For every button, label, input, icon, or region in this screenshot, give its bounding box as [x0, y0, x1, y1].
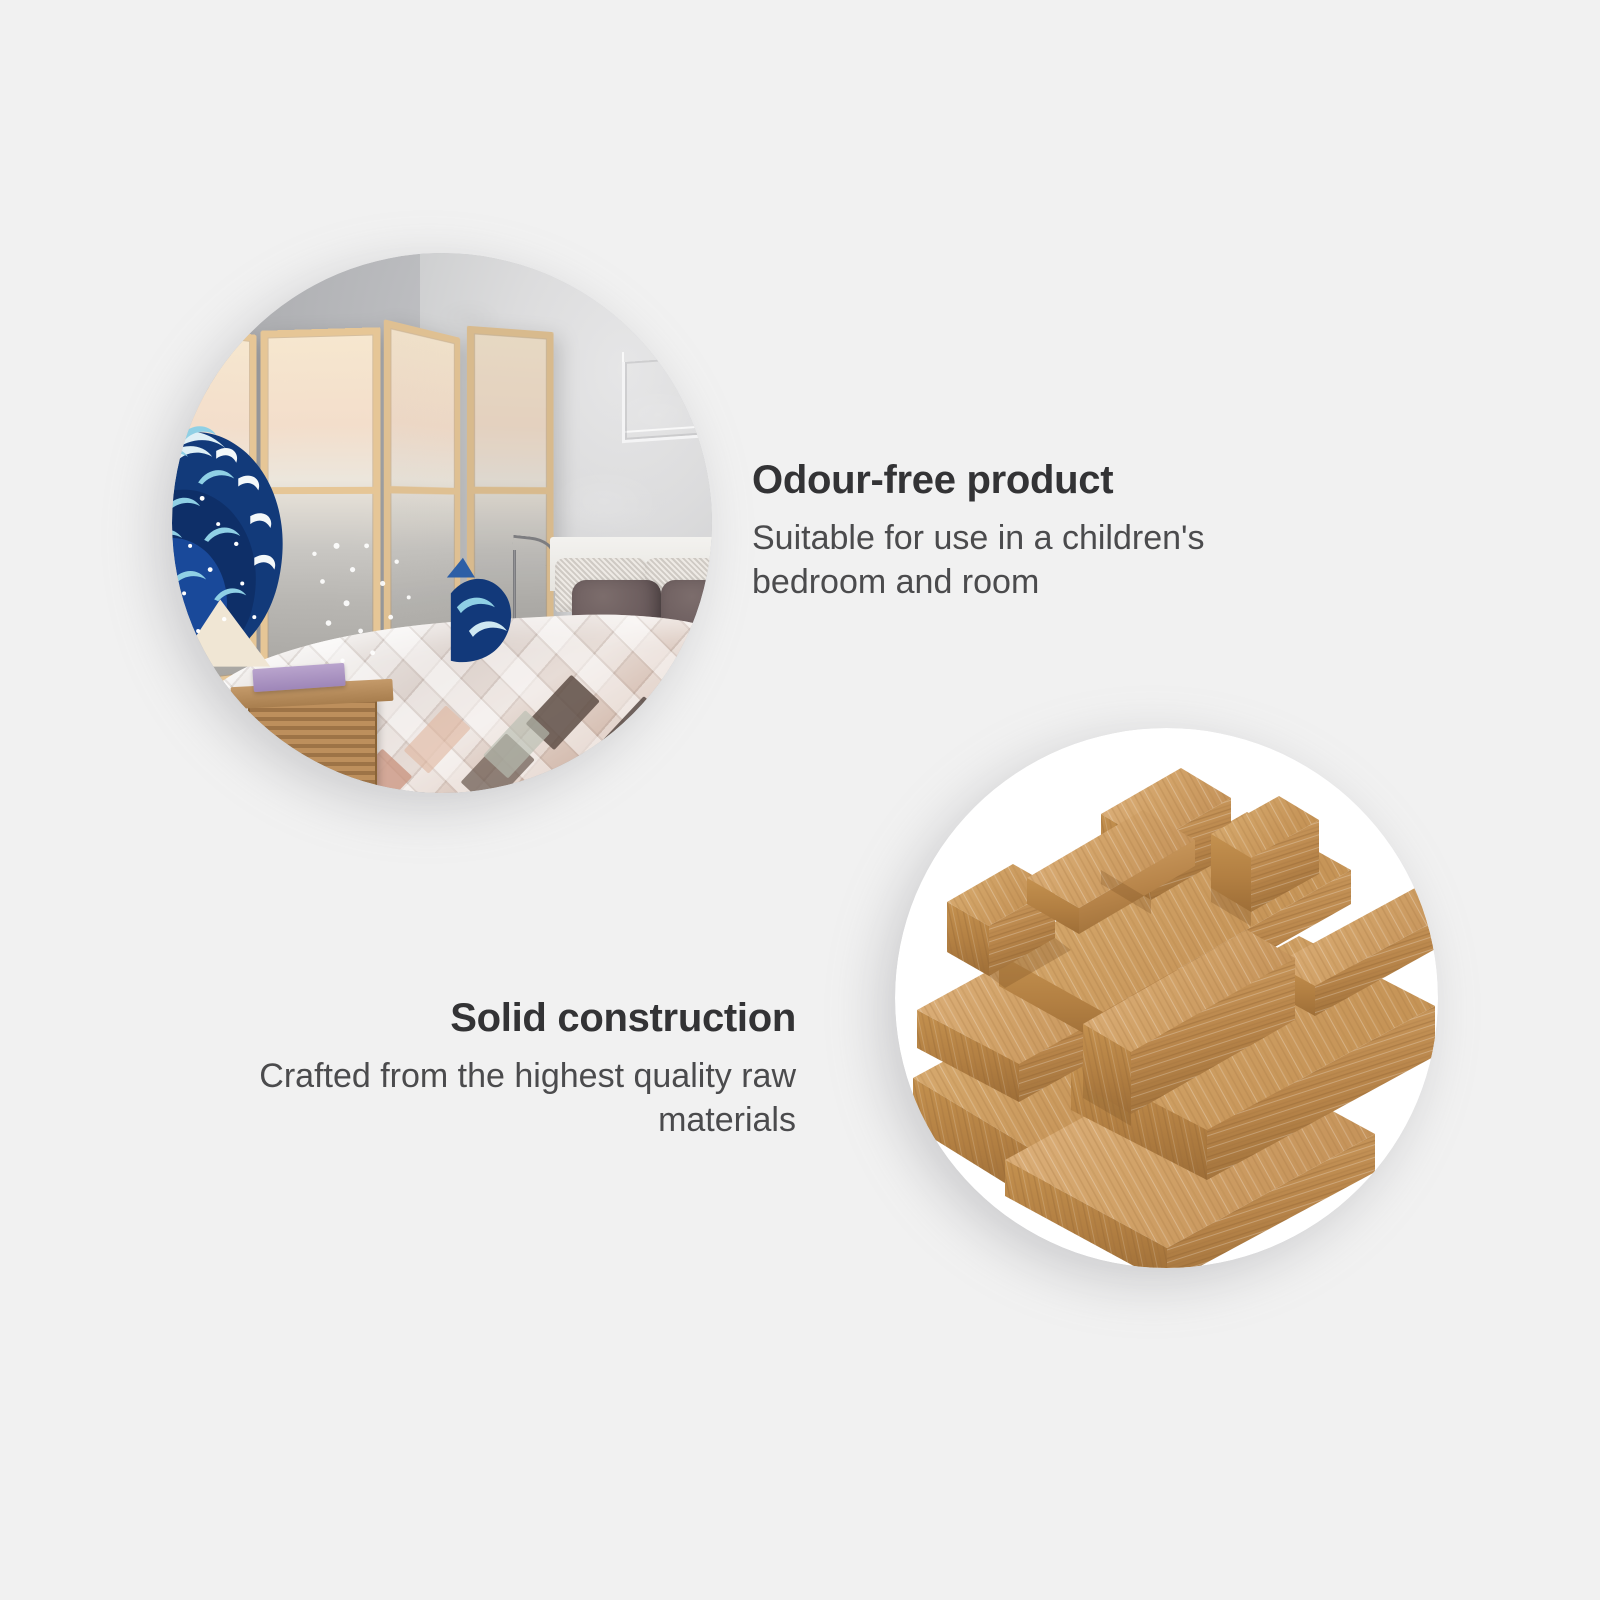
- wicker-basket: [248, 696, 378, 793]
- timber-stack-illustration: [895, 728, 1438, 1268]
- feature-description: Crafted from the highest quality raw mat…: [236, 1055, 796, 1142]
- feature-description: Suitable for use in a children's bedroom…: [752, 517, 1312, 604]
- feature-odour-free-text: Odour-free product Suitable for use in a…: [752, 457, 1312, 604]
- feature-highlight-canvas: Odour-free product Suitable for use in a…: [0, 0, 1600, 1600]
- feature-title: Solid construction: [236, 995, 796, 1041]
- feature-title: Odour-free product: [752, 457, 1312, 503]
- stacked-timber-planks-photo: [895, 728, 1438, 1268]
- feature-solid-construction-text: Solid construction Crafted from the high…: [236, 995, 796, 1142]
- bedroom-with-folding-screen-photo: [172, 253, 712, 793]
- wall-picture-frame: [622, 354, 712, 443]
